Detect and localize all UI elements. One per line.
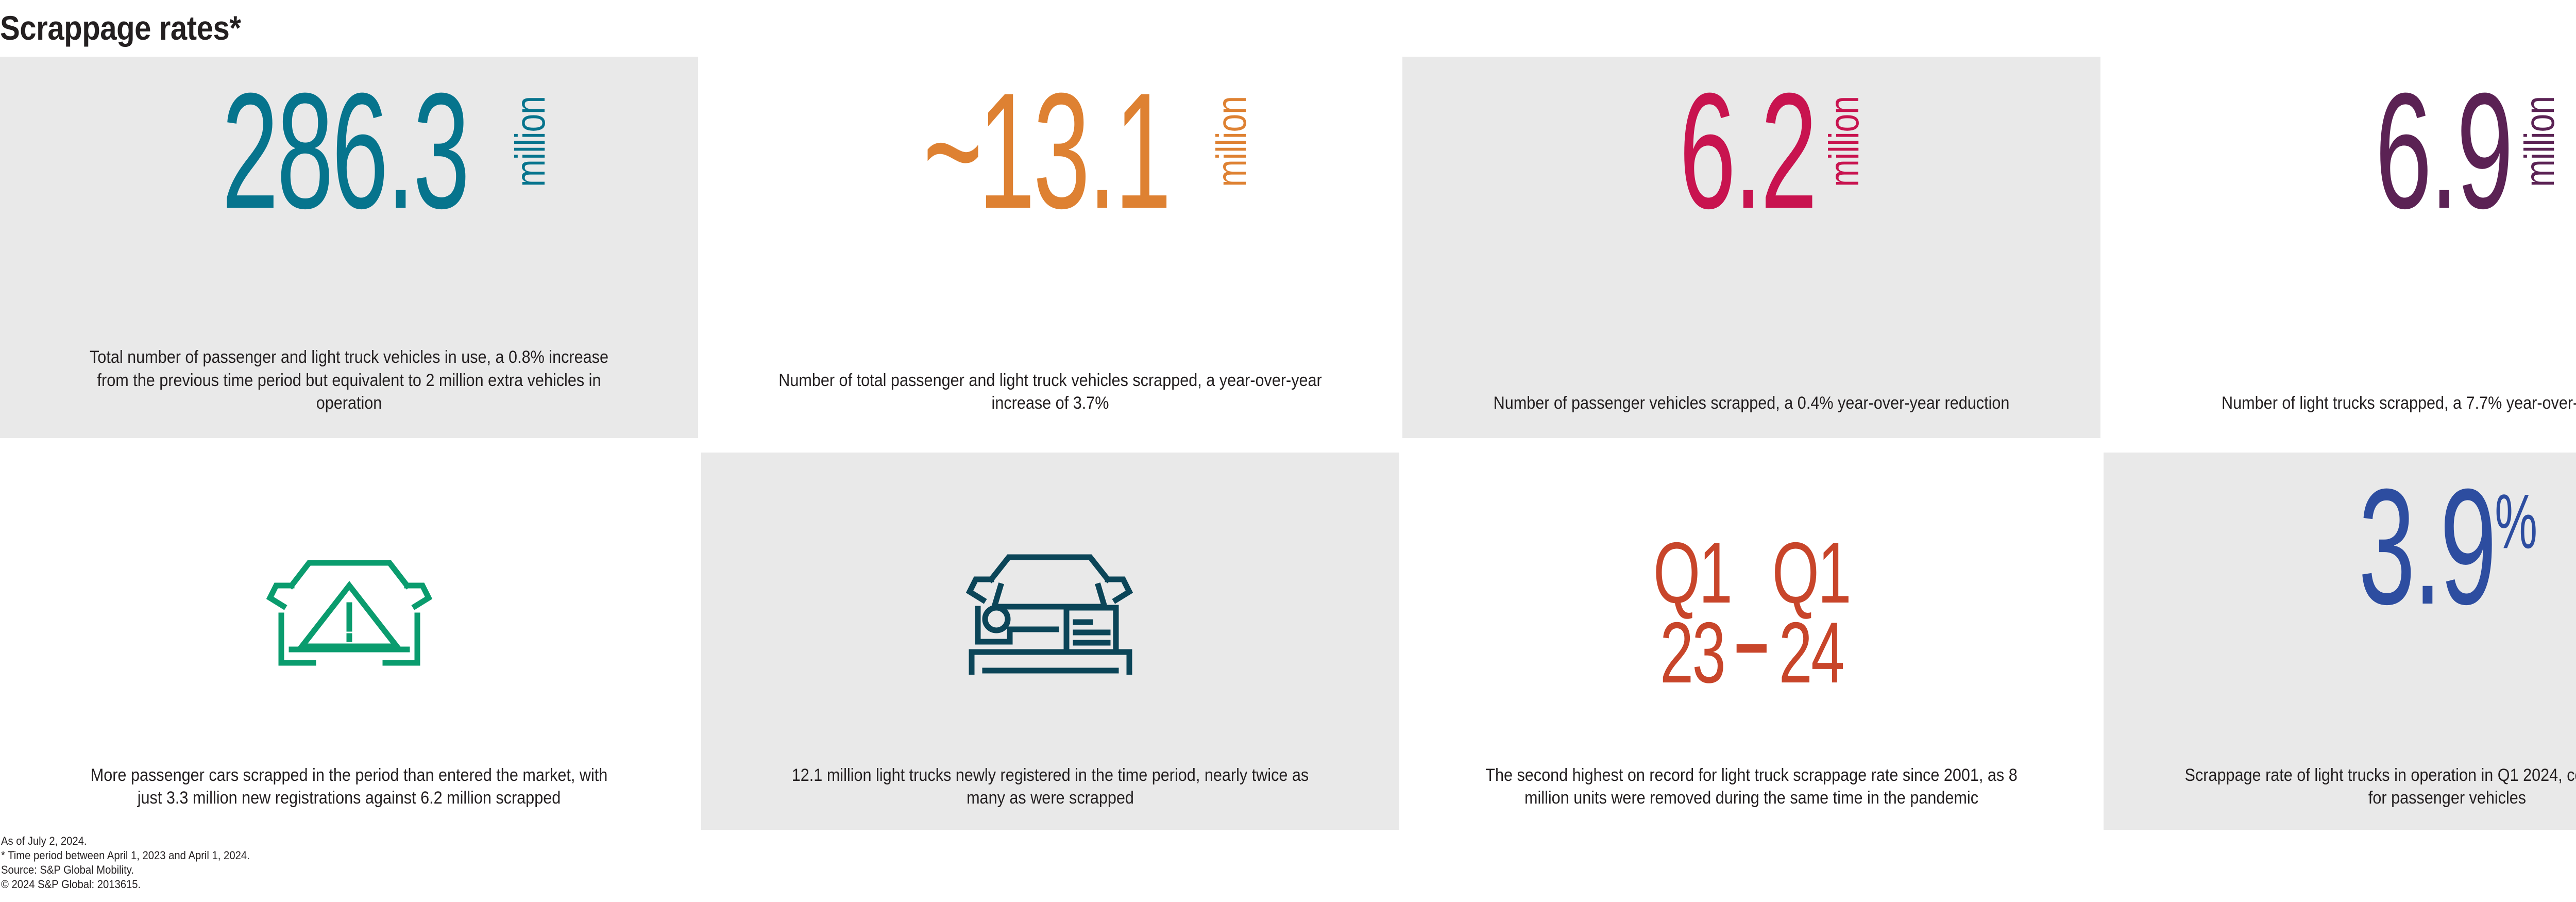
stat-card-vehicles-in-use: 286.3 million Total number of passenger … bbox=[0, 57, 698, 438]
car-registration-icon bbox=[701, 453, 1399, 764]
percent-symbol: % bbox=[2495, 478, 2536, 564]
range-dash: – bbox=[1735, 598, 1768, 685]
stat-card-light-truck-scrappage-rate: 3.9% Scrappage rate of light trucks in o… bbox=[2104, 453, 2576, 830]
car-warning-icon bbox=[0, 453, 698, 764]
quarter-to-label: Q1 bbox=[1772, 533, 1850, 613]
quarter-from-label: Q1 bbox=[1653, 533, 1731, 613]
stat-value: 3.9% bbox=[2359, 474, 2536, 620]
stat-card-light-trucks-scrapped: 6.9 million Number of light trucks scrap… bbox=[2104, 57, 2576, 438]
stat-card-cars-scrapped-vs-registered: More passenger cars scrapped in the peri… bbox=[0, 453, 698, 830]
stat-card-quarter-comparison: Q1 23 – Q1 24 The second highest on reco… bbox=[1402, 453, 2100, 830]
stat-figure: 286.3 million bbox=[0, 57, 698, 346]
stat-caption: Scrappage rate of light trucks in operat… bbox=[2138, 764, 2576, 830]
quarter-from: Q1 23 bbox=[1653, 533, 1731, 692]
stat-figure: 6.9 million bbox=[2104, 57, 2576, 392]
footnote-time-period: * Time period between April 1, 2023 and … bbox=[1, 848, 665, 863]
footnote-source: Source: S&P Global Mobility. bbox=[1, 863, 665, 877]
stat-caption: More passenger cars scrapped in the peri… bbox=[35, 764, 664, 830]
footnote-as-of: As of July 2, 2024. bbox=[1, 834, 665, 848]
stat-caption: Total number of passenger and light truc… bbox=[35, 346, 664, 438]
stat-figure: 3.9% bbox=[2104, 453, 2576, 764]
stat-caption: 12.1 million light trucks newly register… bbox=[736, 764, 1365, 830]
stat-unit-label: million bbox=[1823, 96, 1866, 187]
stat-caption: The second highest on record for light t… bbox=[1437, 764, 2066, 830]
stat-card-light-trucks-registered: 12.1 million light trucks newly register… bbox=[701, 453, 1399, 830]
stat-figure: ~13.1 million bbox=[701, 57, 1399, 369]
stat-value: 6.9 bbox=[2375, 78, 2512, 224]
stat-unit-label: million bbox=[2519, 96, 2561, 187]
quarter-to-year: 24 bbox=[1778, 613, 1843, 693]
stat-caption: Number of light trucks scrapped, a 7.7% … bbox=[2138, 392, 2576, 438]
approx-symbol: ~ bbox=[923, 58, 978, 243]
stat-value: ~13.1 bbox=[923, 78, 1169, 224]
quarter-from-year: 23 bbox=[1660, 613, 1724, 693]
stat-number: 3.9 bbox=[2359, 454, 2495, 639]
footnote: As of July 2, 2024. * Time period betwee… bbox=[1, 834, 665, 892]
stat-unit-label: million bbox=[510, 96, 552, 187]
stat-unit-label: million bbox=[1211, 96, 1253, 187]
quarter-range-figure: Q1 23 – Q1 24 bbox=[1402, 453, 2100, 764]
stat-card-total-scrapped: ~13.1 million Number of total passenger … bbox=[701, 57, 1399, 438]
quarter-to: Q1 24 bbox=[1772, 533, 1850, 692]
stat-caption: Number of passenger vehicles scrapped, a… bbox=[1437, 392, 2066, 438]
stat-figure: 6.2 million bbox=[1402, 57, 2100, 392]
footnote-copyright: © 2024 S&P Global: 2013615. bbox=[1, 877, 665, 892]
stat-number: 13.1 bbox=[978, 58, 1169, 243]
stat-card-passenger-scrapped: 6.2 million Number of passenger vehicles… bbox=[1402, 57, 2100, 438]
page-title: Scrappage rates* bbox=[0, 0, 725, 59]
stat-caption: Number of total passenger and light truc… bbox=[736, 369, 1365, 438]
stat-value: 286.3 bbox=[222, 78, 468, 224]
stat-value: 6.2 bbox=[1679, 78, 1816, 224]
stats-grid: 286.3 million Total number of passenger … bbox=[0, 57, 2576, 830]
